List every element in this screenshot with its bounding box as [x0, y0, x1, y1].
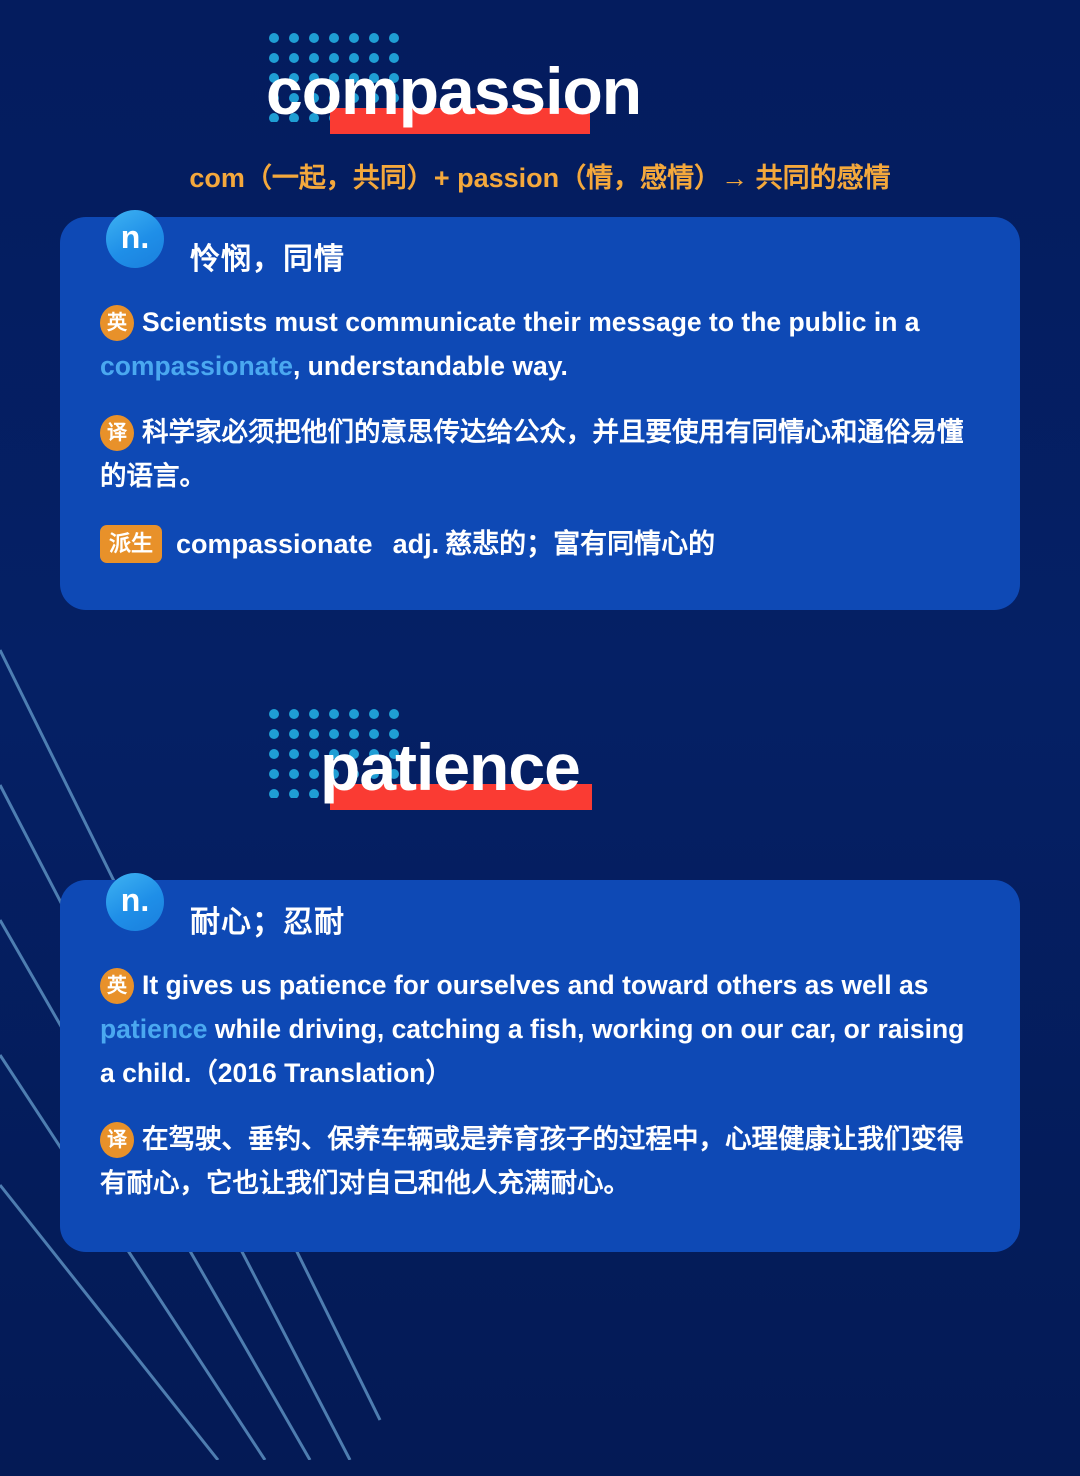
english-badge: 英	[100, 968, 134, 1004]
example-sentence-english: 英It gives us patience for ourselves and …	[100, 964, 980, 1096]
derivative-pos: adj.	[393, 529, 440, 559]
definition-row: n. 怜悯，同情	[100, 233, 980, 279]
translation-badge: 译	[100, 1122, 134, 1158]
example-sentence-english: 英Scientists must communicate their messa…	[100, 301, 980, 389]
translation-badge: 译	[100, 415, 134, 451]
definition-text: 怜悯，同情	[190, 234, 345, 278]
example-text-after: , understandable way.	[293, 351, 568, 381]
example-highlight-word: patience	[100, 1014, 208, 1044]
word-title: patience	[320, 734, 580, 800]
definition-card-patience: n. 耐心；忍耐 英It gives us patience for ourse…	[60, 880, 1020, 1252]
derivative-word: compassionate	[176, 529, 373, 559]
example-highlight-word: compassionate	[100, 351, 293, 381]
part-of-speech-badge: n.	[106, 210, 164, 268]
definition-text: 耐心；忍耐	[190, 897, 345, 941]
example-translation-chinese: 译科学家必须把他们的意思传达给公众，并且要使用有同情心和通俗易懂的语言。	[100, 411, 980, 499]
word-title-block-patience: patience	[0, 702, 1080, 822]
part-of-speech-badge: n.	[106, 873, 164, 931]
derivative-row: 派生compassionateadj.慈悲的；富有同情心的	[100, 525, 980, 564]
example-text-before: Scientists must communicate their messag…	[142, 307, 920, 337]
derivative-badge: 派生	[100, 525, 162, 563]
derivative-meaning: 慈悲的；富有同情心的	[445, 529, 715, 559]
definition-card-compassion: n. 怜悯，同情 英Scientists must communicate th…	[60, 217, 1020, 610]
example-text-before: It gives us patience for ourselves and t…	[142, 970, 928, 1000]
etymology-line: com（一起，共同）+ passion（情，感情）→ 共同的感情	[0, 156, 1080, 195]
translation-text: 科学家必须把他们的意思传达给公众，并且要使用有同情心和通俗易懂的语言。	[100, 417, 964, 491]
definition-row: n. 耐心；忍耐	[100, 896, 980, 942]
word-title: compassion	[266, 58, 641, 124]
word-title-block-compassion: compassion	[0, 26, 1080, 146]
example-text-after: while driving, catching a fish, working …	[100, 1014, 964, 1088]
translation-text: 在驾驶、垂钓、保养车辆或是养育孩子的过程中，心理健康让我们变得有耐心，它也让我们…	[100, 1124, 964, 1198]
english-badge: 英	[100, 305, 134, 341]
example-translation-chinese: 译在驾驶、垂钓、保养车辆或是养育孩子的过程中，心理健康让我们变得有耐心，它也让我…	[100, 1118, 980, 1206]
